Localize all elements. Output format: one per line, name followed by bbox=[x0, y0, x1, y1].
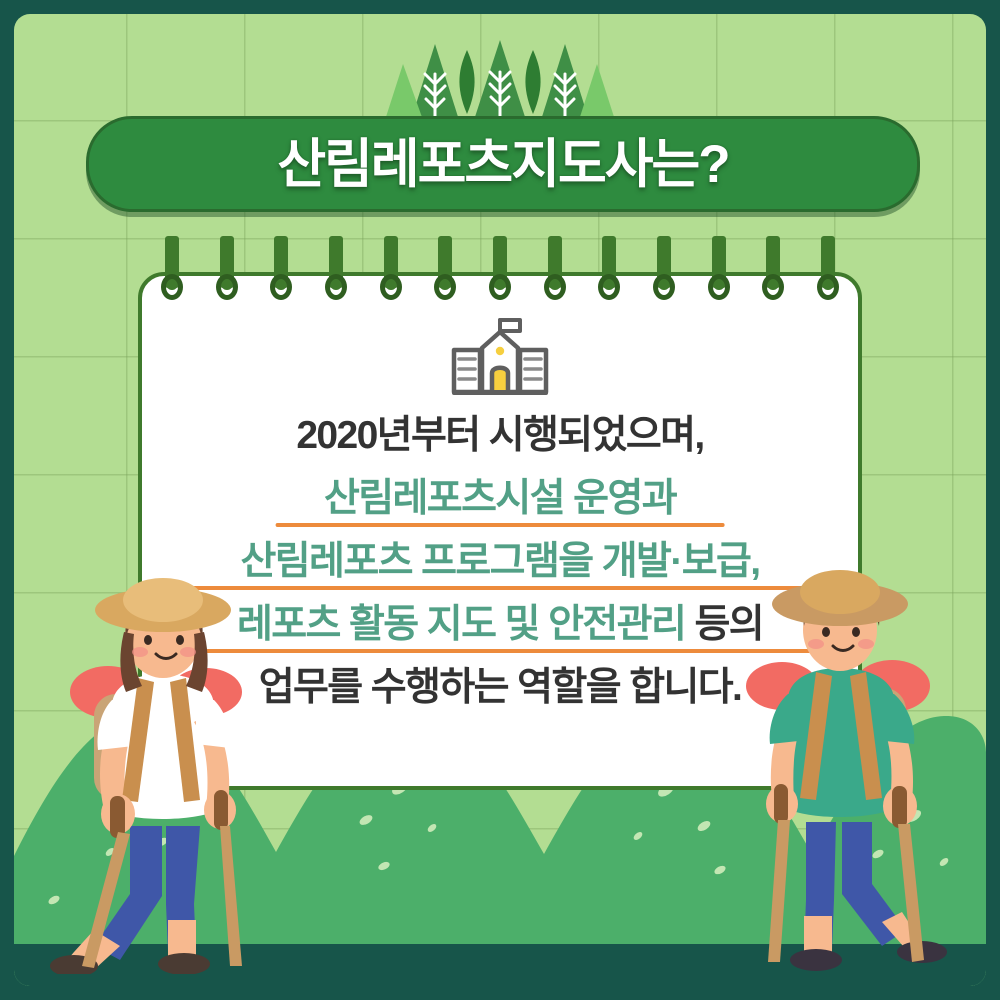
card-text-segment: 업무를 수행하는 역할을 합니다. bbox=[259, 666, 742, 709]
card-text-line: 2020년부터 시행되었으며, bbox=[160, 404, 840, 467]
title-banner: 산림레포츠지도사는? bbox=[86, 116, 920, 212]
female-hiker-icon bbox=[34, 574, 294, 974]
card-text-segment: 레포츠 활동 지도 및 안전관리 bbox=[237, 603, 685, 646]
page-title: 산림레포츠지도사는? bbox=[277, 138, 728, 191]
card-text-segment: 산림레포츠시설 운영과 bbox=[324, 477, 676, 520]
card-text-segment: 2020년부터 시행되었으며, bbox=[296, 414, 703, 457]
card-text-line: 산림레포츠시설 운영과 bbox=[160, 467, 840, 530]
poster-root: 산림레포츠지도사는? 2020년부터 시행되었으며,산림레포츠시설 운영과산림레… bbox=[0, 0, 1000, 1000]
card-text-segment: 산림레포츠 프로그램을 개발·보급, bbox=[240, 540, 759, 583]
male-hiker-icon bbox=[716, 564, 966, 974]
school-building-icon bbox=[448, 318, 552, 396]
